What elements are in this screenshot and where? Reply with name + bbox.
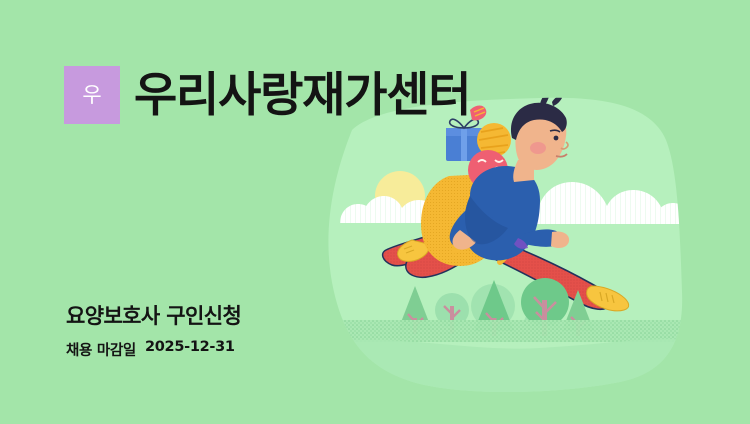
logo-badge: 우 <box>64 66 120 124</box>
cheek <box>530 142 546 154</box>
logo-badge-glyph: 우 <box>82 85 101 106</box>
deadline-label: 채용 마감일 <box>66 339 136 360</box>
ground-texture <box>330 320 690 342</box>
footer-text-block: 요양보호사 구인신청 채용 마감일 2025-12-31 <box>66 303 241 360</box>
job-title: 요양보호사 구인신청 <box>66 303 241 329</box>
header: 우 우리사랑재가센터 <box>64 66 470 124</box>
organization-title: 우리사랑재가센터 <box>134 72 470 119</box>
job-posting-banner: 우 우리사랑재가센터 요양보호사 구인신청 채용 마감일 2025-12-31 <box>0 0 750 424</box>
eye <box>554 136 559 141</box>
banner-illustration <box>0 0 750 424</box>
deadline-row: 채용 마감일 2025-12-31 <box>66 339 241 360</box>
deadline-date: 2025-12-31 <box>145 339 235 360</box>
